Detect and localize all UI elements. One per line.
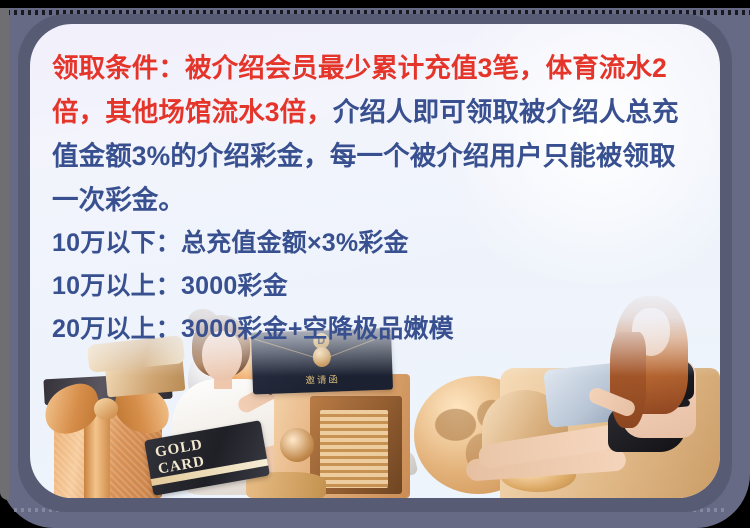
reward-tier-2: 10万以上：3000彩金 bbox=[52, 265, 702, 308]
coin-stacks bbox=[320, 410, 388, 488]
envelope-label: 邀请函 bbox=[252, 370, 392, 389]
promo-banner: D 邀请函 GOLD CARD bbox=[0, 0, 750, 528]
reward-tier-1: 10万以下：总充值金额×3%彩金 bbox=[52, 222, 702, 265]
banner-frame-left-edge bbox=[0, 8, 9, 500]
promo-copy: 领取条件：被介绍会员最少累计充值3笔，体育流水2倍，其他场馆流水3倍，介绍人即可… bbox=[52, 46, 702, 351]
reward-tier-3: 20万以上：3000彩金+空降极品嫩模 bbox=[52, 308, 702, 351]
gold-card-text: GOLD CARD bbox=[154, 437, 207, 479]
promo-conditions-paragraph: 领取条件：被介绍会员最少累计充值3笔，体育流水2倍，其他场馆流水3倍，介绍人即可… bbox=[52, 46, 702, 222]
gift-bow-knot bbox=[94, 398, 118, 420]
promo-card: D 邀请函 GOLD CARD bbox=[30, 24, 720, 498]
safe-handle bbox=[280, 428, 314, 462]
